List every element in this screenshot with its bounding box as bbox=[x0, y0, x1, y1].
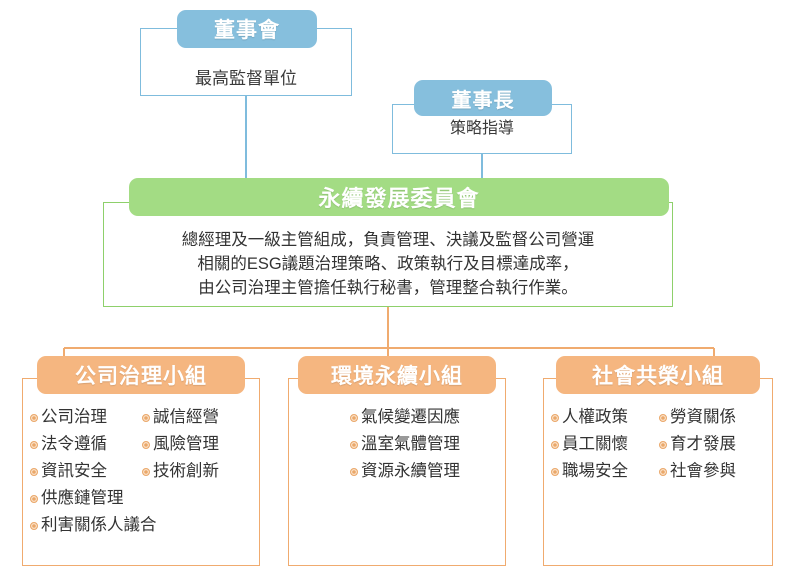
committee-description-line-3: 由公司治理主管擔任執行秘書，管理整合執行作業。 bbox=[117, 276, 659, 300]
committee-description-line-2: 相關的ESG議題治理策略、政策執行及目標達成率， bbox=[117, 252, 659, 276]
list-item: 勞資關係 bbox=[659, 404, 767, 431]
society-item-list: 人權政策 員工關懷 職場安全 勞資關係 育才發展 bbox=[551, 404, 767, 485]
list-item: 利害關係人議合 bbox=[30, 512, 142, 539]
governance-item-label: 誠信經營 bbox=[153, 404, 219, 431]
governance-item-label: 利害關係人議合 bbox=[41, 512, 157, 539]
list-item: 育才發展 bbox=[659, 431, 767, 458]
list-item: 員工關懷 bbox=[551, 431, 659, 458]
society-column-right: 勞資關係 育才發展 社會參與 bbox=[659, 404, 767, 485]
bullet-icon bbox=[30, 468, 38, 476]
list-item: 社會參與 bbox=[659, 458, 767, 485]
society-item-label: 育才發展 bbox=[670, 431, 736, 458]
governance-item-label: 技術創新 bbox=[153, 458, 219, 485]
node-group-society: 社會共榮小組 人權政策 員工關懷 職場安全 勞資關係 bbox=[543, 378, 773, 566]
committee-title: 永續發展委員會 bbox=[129, 178, 669, 216]
list-item: 氣候變遷因應 bbox=[350, 404, 460, 431]
governance-item-label: 法令遵循 bbox=[41, 431, 107, 458]
environment-item-list: 氣候變遷因應 溫室氣體管理 資源永續管理 bbox=[296, 404, 500, 485]
bullet-icon bbox=[350, 441, 358, 449]
governance-item-list: 公司治理 法令遵循 資訊安全 供應鏈管理 利害關係人議合 bbox=[30, 404, 254, 539]
society-column-left: 人權政策 員工關懷 職場安全 bbox=[551, 404, 659, 485]
list-item: 資源永續管理 bbox=[350, 458, 460, 485]
list-item: 人權政策 bbox=[551, 404, 659, 431]
governance-title: 公司治理小組 bbox=[37, 356, 245, 394]
society-item-label: 勞資關係 bbox=[670, 404, 736, 431]
environment-item-label: 資源永續管理 bbox=[361, 458, 460, 485]
node-board-of-directors: 董事會 最高監督單位 bbox=[140, 28, 352, 96]
list-item: 法令遵循 bbox=[30, 431, 142, 458]
bullet-icon bbox=[30, 414, 38, 422]
list-item: 供應鏈管理 bbox=[30, 485, 142, 512]
society-title: 社會共榮小組 bbox=[556, 356, 760, 394]
list-item: 資訊安全 bbox=[30, 458, 142, 485]
governance-column-right: 誠信經營 風險管理 技術創新 bbox=[142, 404, 254, 539]
bullet-icon bbox=[659, 441, 667, 449]
bullet-icon bbox=[30, 441, 38, 449]
society-item-label: 員工關懷 bbox=[562, 431, 628, 458]
chairman-caption: 策略指導 bbox=[392, 114, 572, 138]
list-item: 技術創新 bbox=[142, 458, 254, 485]
bullet-icon bbox=[30, 522, 38, 530]
governance-item-label: 公司治理 bbox=[41, 404, 107, 431]
bullet-icon bbox=[659, 414, 667, 422]
list-item: 風險管理 bbox=[142, 431, 254, 458]
society-item-label: 社會參與 bbox=[670, 458, 736, 485]
list-item: 誠信經營 bbox=[142, 404, 254, 431]
bullet-icon bbox=[142, 468, 150, 476]
governance-item-label: 風險管理 bbox=[153, 431, 219, 458]
society-item-label: 人權政策 bbox=[562, 404, 628, 431]
node-chairman: 董事長 策略指導 bbox=[392, 104, 572, 154]
governance-item-label: 資訊安全 bbox=[41, 458, 107, 485]
governance-item-label: 供應鏈管理 bbox=[41, 485, 124, 512]
environment-column-left: 氣候變遷因應 溫室氣體管理 資源永續管理 bbox=[336, 404, 460, 485]
bullet-icon bbox=[551, 468, 559, 476]
node-group-governance: 公司治理小組 公司治理 法令遵循 資訊安全 供應鏈管理 bbox=[22, 378, 260, 566]
list-item: 職場安全 bbox=[551, 458, 659, 485]
bullet-icon bbox=[350, 414, 358, 422]
bullet-icon bbox=[551, 414, 559, 422]
environment-title: 環境永續小組 bbox=[298, 356, 496, 394]
environment-item-label: 氣候變遷因應 bbox=[361, 404, 460, 431]
bullet-icon bbox=[350, 468, 358, 476]
society-item-label: 職場安全 bbox=[562, 458, 628, 485]
list-item: 溫室氣體管理 bbox=[350, 431, 460, 458]
board-caption: 最高監督單位 bbox=[140, 64, 352, 89]
list-item: 公司治理 bbox=[30, 404, 142, 431]
committee-description-line-1: 總經理及一級主管組成，負責管理、決議及監督公司營運 bbox=[117, 228, 659, 252]
governance-column-left: 公司治理 法令遵循 資訊安全 供應鏈管理 利害關係人議合 bbox=[30, 404, 142, 539]
bullet-icon bbox=[142, 414, 150, 422]
node-group-environment: 環境永續小組 氣候變遷因應 溫室氣體管理 資源永續管理 bbox=[288, 378, 506, 566]
bullet-icon bbox=[142, 441, 150, 449]
bullet-icon bbox=[659, 468, 667, 476]
org-chart-diagram: 董事會 最高監督單位 董事長 策略指導 永續發展委員會 總經理及一級主管組成，負… bbox=[0, 0, 790, 582]
chairman-title: 董事長 bbox=[414, 80, 552, 116]
board-title: 董事會 bbox=[177, 10, 317, 48]
node-sustainability-committee: 永續發展委員會 總經理及一級主管組成，負責管理、決議及監督公司營運 相關的ESG… bbox=[103, 202, 673, 307]
committee-description: 總經理及一級主管組成，負責管理、決議及監督公司營運 相關的ESG議題治理策略、政… bbox=[117, 228, 659, 300]
bullet-icon bbox=[30, 495, 38, 503]
environment-item-label: 溫室氣體管理 bbox=[361, 431, 460, 458]
bullet-icon bbox=[551, 441, 559, 449]
